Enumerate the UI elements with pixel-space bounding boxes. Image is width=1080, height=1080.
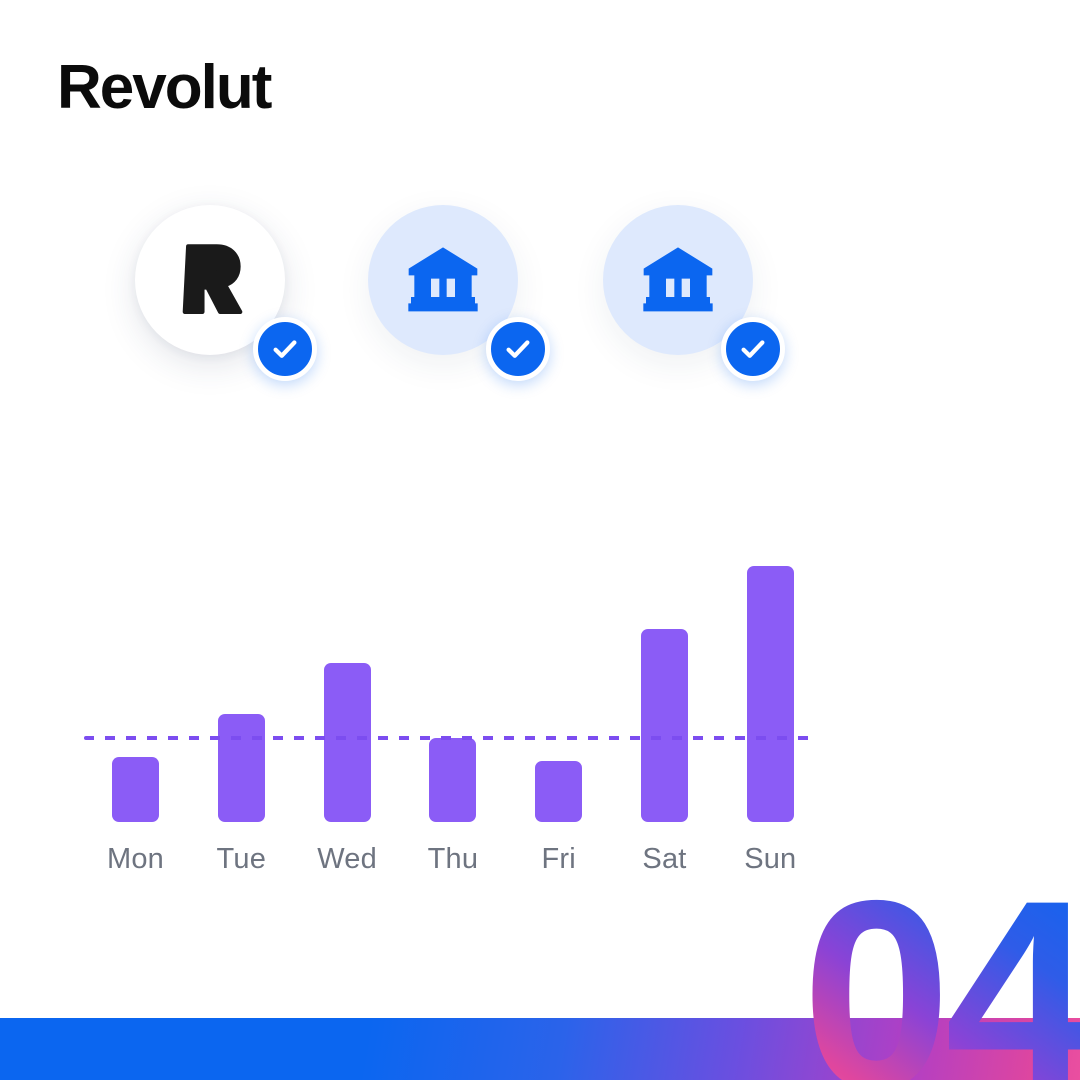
bar-mon — [112, 757, 159, 822]
bar-sat — [641, 629, 688, 822]
slide-canvas: Revolut — [0, 0, 1080, 1080]
bar-tue — [218, 714, 265, 822]
bar-sun — [747, 566, 794, 822]
slide-number: 04 — [802, 860, 1080, 1080]
bar-thu — [429, 738, 476, 822]
bar-wed — [324, 663, 371, 822]
average-line — [84, 736, 816, 740]
bar-fri — [535, 761, 582, 822]
